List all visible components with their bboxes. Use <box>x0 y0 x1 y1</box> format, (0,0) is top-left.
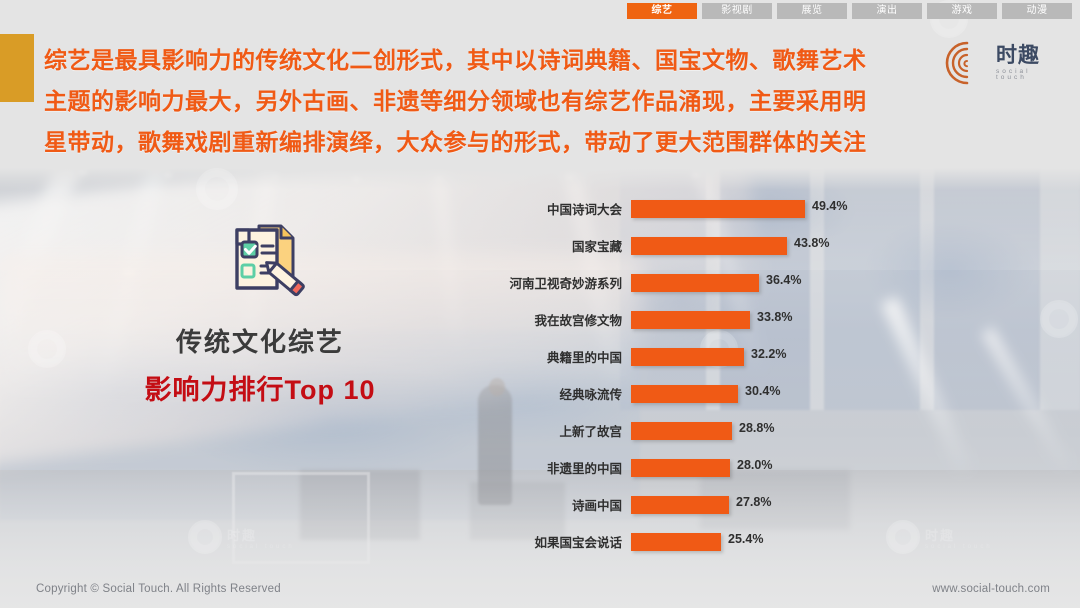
bar-value: 25.4% <box>728 532 763 546</box>
bar-value: 36.4% <box>766 273 801 287</box>
gold-accent-block <box>0 34 34 102</box>
footer-website[interactable]: www.social-touch.com <box>932 583 1050 595</box>
footer-copyright: Copyright © Social Touch. All Rights Res… <box>36 583 281 595</box>
bar-fill <box>631 385 738 403</box>
chart-row: 上新了故宫 28.8% <box>470 412 990 449</box>
bar-track: 30.4% <box>631 385 990 403</box>
bar-track: 27.8% <box>631 496 990 514</box>
chart-row: 典籍里的中国 32.2% <box>470 338 990 375</box>
chart-row: 中国诗词大会 49.4% <box>470 190 990 227</box>
bar-label: 中国诗词大会 <box>470 199 631 218</box>
chart-row: 非遗里的中国 28.0% <box>470 449 990 486</box>
bar-fill <box>631 348 744 366</box>
bar-value: 43.8% <box>794 236 829 250</box>
bar-fill <box>631 237 787 255</box>
panel-title: 传统文化综艺 <box>40 322 480 359</box>
bar-label: 经典咏流传 <box>470 384 631 403</box>
bar-value: 27.8% <box>736 495 771 509</box>
top-navigation-bar: 综艺 影视剧 展览 演出 游戏 动漫 <box>0 0 1080 22</box>
bar-track: 49.4% <box>631 200 990 218</box>
bar-label: 我在故宫修文物 <box>470 310 631 329</box>
nav-item-dongman[interactable]: 动漫 <box>1002 3 1072 19</box>
chart-row: 我在故宫修文物 33.8% <box>470 301 990 338</box>
bar-label: 河南卫视奇妙游系列 <box>470 273 631 292</box>
bar-label: 上新了故宫 <box>470 421 631 440</box>
bar-value: 28.8% <box>739 421 774 435</box>
bar-fill <box>631 274 759 292</box>
bar-label: 诗画中国 <box>470 495 631 514</box>
bar-track: 43.8% <box>631 237 990 255</box>
bar-value: 33.8% <box>757 310 792 324</box>
nav-item-yanchu[interactable]: 演出 <box>852 3 922 19</box>
bar-label: 如果国宝会说话 <box>470 532 631 551</box>
chart-row: 诗画中国 27.8% <box>470 486 990 523</box>
bar-value: 28.0% <box>737 458 772 472</box>
bar-label: 国家宝藏 <box>470 236 631 255</box>
nav-item-yingshiju[interactable]: 影视剧 <box>702 3 772 19</box>
bar-track: 32.2% <box>631 348 990 366</box>
bar-track: 28.8% <box>631 422 990 440</box>
bar-fill <box>631 496 729 514</box>
bar-fill <box>631 533 721 551</box>
bar-value: 49.4% <box>812 199 847 213</box>
brand-logo: 时趣 social touch <box>944 34 1064 92</box>
chart-row: 河南卫视奇妙游系列 36.4% <box>470 264 990 301</box>
slide-root: 时趣social touch 时趣social touch 综艺 影视剧 展览 … <box>0 0 1080 608</box>
bar-fill <box>631 422 732 440</box>
brand-name-cn: 时趣 <box>996 45 1064 66</box>
bar-track: 36.4% <box>631 274 990 292</box>
brand-name-en: social touch <box>996 69 1064 82</box>
nav-item-zongyi[interactable]: 综艺 <box>627 3 697 19</box>
bar-value: 32.2% <box>751 347 786 361</box>
nav-items: 综艺 影视剧 展览 演出 游戏 动漫 <box>627 3 1072 19</box>
headline-line-2: 主题的影响力最大，另外古画、非遗等细分领域也有综艺作品涌现，主要采用明 <box>44 81 944 122</box>
chart-row: 如果国宝会说话 25.4% <box>470 523 990 560</box>
bar-fill <box>631 459 730 477</box>
bar-track: 28.0% <box>631 459 990 477</box>
panel-subtitle: 影响力排行Top 10 <box>40 368 480 407</box>
bar-label: 非遗里的中国 <box>470 458 631 477</box>
bar-track: 25.4% <box>631 533 990 551</box>
nav-item-youxi[interactable]: 游戏 <box>927 3 997 19</box>
chart-row: 经典咏流传 30.4% <box>470 375 990 412</box>
headline-line-3: 星带动，歌舞戏剧重新编排演绎，大众参与的形式，带动了更大范围群体的关注 <box>44 122 944 163</box>
clipboard-checklist-pencil-icon <box>215 212 311 308</box>
concentric-rings-icon <box>944 40 990 86</box>
headline-line-1: 综艺是最具影响力的传统文化二创形式，其中以诗词典籍、国宝文物、歌舞艺术 <box>44 40 944 81</box>
bar-fill <box>631 311 750 329</box>
bar-label: 典籍里的中国 <box>470 347 631 366</box>
chart-row: 国家宝藏 43.8% <box>470 227 990 264</box>
bar-fill <box>631 200 805 218</box>
nav-item-zhanlan[interactable]: 展览 <box>777 3 847 19</box>
headline-paragraph: 综艺是最具影响力的传统文化二创形式，其中以诗词典籍、国宝文物、歌舞艺术 主题的影… <box>44 40 944 163</box>
bar-value: 30.4% <box>745 384 780 398</box>
bar-chart: 中国诗词大会 49.4% 国家宝藏 43.8% 河南卫视奇妙游系列 36.4% … <box>470 190 990 560</box>
bar-track: 33.8% <box>631 311 990 329</box>
